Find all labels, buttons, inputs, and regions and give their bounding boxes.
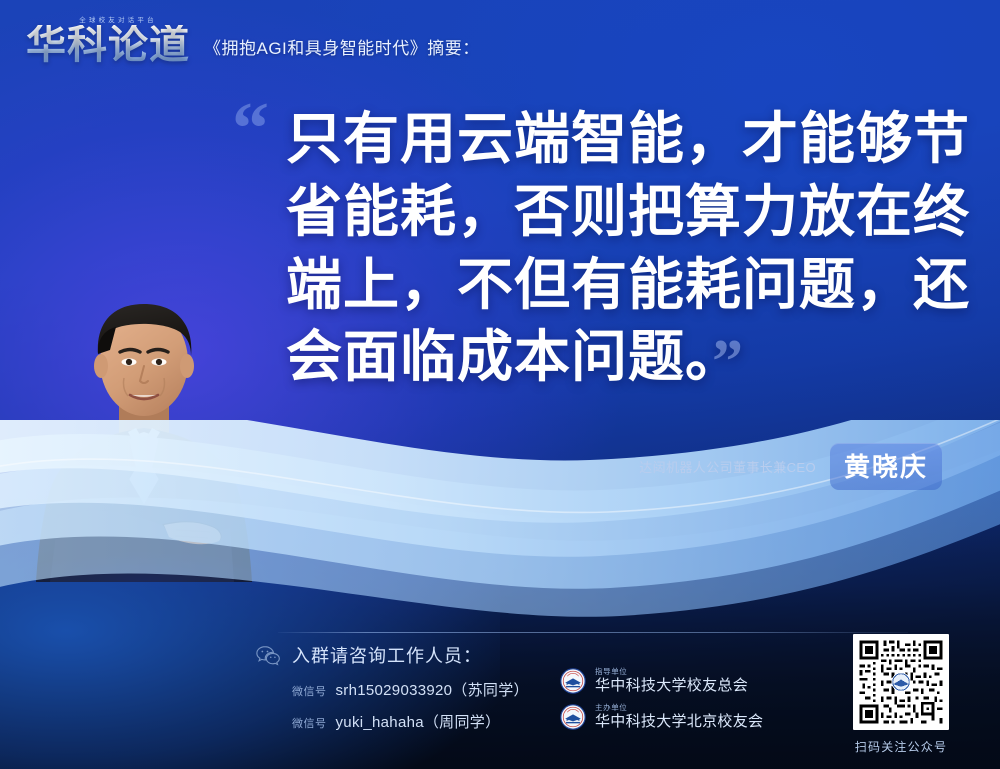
contact-label: 微信号 [292,715,327,731]
wechat-icon [256,645,280,665]
page-title: 《拥抱AGI和具身智能时代》摘要： [204,34,480,65]
brand-logo: 全球校友对话平台 华科论道 [26,14,190,65]
attribution: 达闼机器人公司董事长兼CEO 黄晓庆 [639,443,942,490]
organizer-list: 指导单位 华中科技大学校友总会 主办单位 华中科技大学北京校友会 [560,668,763,740]
contact-value: yuki_hahaha（周同学） [336,711,501,732]
qr-code[interactable] [853,634,949,730]
organizer-text: 主办单位 华中科技大学北京校友会 [595,704,763,729]
quote-line: 只有用云端智能，才能够节 [286,103,946,176]
university-seal-icon [560,668,586,694]
quote-line-text: 会面临成本问题。 [286,325,714,388]
quote-line: 端上，不但有能耗问题，还 [286,249,946,322]
quote-open-mark: “ [232,92,269,166]
quote-close-mark: ” [712,328,744,396]
contact-label: 微信号 [292,683,327,699]
organizer-name: 华中科技大学校友总会 [595,678,748,694]
quote-line: 省能耗，否则把算力放在终 [286,176,946,249]
organizer-text: 指导单位 华中科技大学校友总会 [595,668,748,693]
speaker-name-badge: 黄晓庆 [830,443,942,490]
contact-value: srh15029033920（苏同学） [336,679,529,700]
poster-canvas: 全球校友对话平台 华科论道 《拥抱AGI和具身智能时代》摘要： “ 只有用云端智… [0,0,1000,769]
speaker-role: 达闼机器人公司董事长兼CEO [639,457,816,476]
organizer-name: 华中科技大学北京校友会 [595,714,763,730]
organizer-row: 主办单位 华中科技大学北京校友会 [560,704,763,730]
organizer-kind: 主办单位 [595,704,763,712]
university-seal-icon [560,704,586,730]
speaker-portrait [24,282,264,582]
quote-text: 只有用云端智能，才能够节 省能耗，否则把算力放在终 端上，不但有能耗问题，还 会… [286,103,946,403]
qr-block: 扫码关注公众号 [843,634,959,755]
qr-caption: 扫码关注公众号 [843,738,959,755]
quote-line-last: 会面临成本问题。” [286,321,946,403]
footer-heading-row: 入群请咨询工作人员： [256,642,816,668]
organizer-kind: 指导单位 [595,668,748,676]
header: 全球校友对话平台 华科论道 《拥抱AGI和具身智能时代》摘要： [26,14,480,65]
organizer-row: 指导单位 华中科技大学校友总会 [560,668,763,694]
logo-wordmark: 华科论道 [26,25,190,65]
footer-heading: 入群请咨询工作人员： [292,642,482,668]
footer-divider [278,632,908,633]
logo-tagline: 全球校友对话平台 [46,14,190,24]
